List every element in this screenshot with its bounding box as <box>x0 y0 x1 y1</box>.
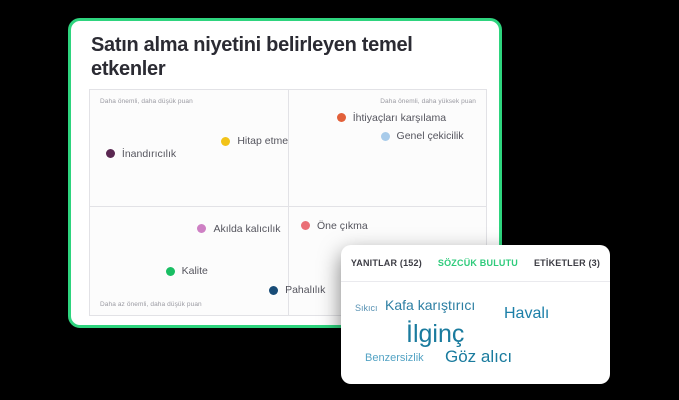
data-point-label: İhtiyaçları karşılama <box>353 112 446 124</box>
data-point-dot <box>269 286 278 295</box>
data-point[interactable]: Öne çıkma <box>301 220 368 232</box>
data-point[interactable]: Kalite <box>166 265 208 277</box>
data-point[interactable]: Hitap etme <box>221 135 288 147</box>
data-point-dot <box>301 221 310 230</box>
data-point-dot <box>381 132 390 141</box>
word-cloud-term[interactable]: Göz alıcı <box>445 348 512 365</box>
data-point[interactable]: İhtiyaçları karşılama <box>337 112 446 124</box>
word-cloud-panel: YANITLAR (152)SÖZCÜK BULUTUETİKETLER (3)… <box>341 245 610 384</box>
data-point-label: Öne çıkma <box>317 220 368 232</box>
data-point-dot <box>106 149 115 158</box>
word-cloud-term[interactable]: Havalı <box>504 306 549 322</box>
word-cloud-term[interactable]: Kafa karıştırıcı <box>385 298 475 312</box>
data-point-label: İnandırıcılık <box>122 148 176 160</box>
word-cloud: SıkıcıKafa karıştırıcıHavalıİlginçBenzer… <box>341 282 610 384</box>
data-point[interactable]: İnandırıcılık <box>106 148 176 160</box>
data-point-dot <box>221 137 230 146</box>
data-point-dot <box>197 224 206 233</box>
data-point[interactable]: Akılda kalıcılık <box>197 223 280 235</box>
tab-tags[interactable]: ETİKETLER (3) <box>534 258 600 268</box>
word-cloud-term[interactable]: Sıkıcı <box>355 304 378 313</box>
data-point-dot <box>337 113 346 122</box>
data-point-label: Akılda kalıcılık <box>213 223 280 235</box>
word-cloud-term[interactable]: İlginç <box>406 322 464 347</box>
page-title: Satın alma niyetini belirleyen temel etk… <box>91 34 481 81</box>
quadrant-horizontal-axis <box>90 206 486 207</box>
quadrant-label-top-left: Daha önemli, daha düşük puan <box>100 98 193 105</box>
quadrant-vertical-axis <box>288 90 289 315</box>
data-point-label: Pahalılık <box>285 284 325 296</box>
tab-word-cloud[interactable]: SÖZCÜK BULUTU <box>438 258 518 268</box>
word-cloud-term[interactable]: Benzersizlik <box>365 353 424 364</box>
data-point[interactable]: Genel çekicilik <box>381 130 464 142</box>
data-point-label: Kalite <box>182 265 208 277</box>
data-point-label: Hitap etme <box>237 135 288 147</box>
tab-bar: YANITLAR (152)SÖZCÜK BULUTUETİKETLER (3) <box>341 245 610 282</box>
quadrant-label-bottom-left: Daha az önemli, daha düşük puan <box>100 301 202 308</box>
data-point-dot <box>166 267 175 276</box>
quadrant-label-top-right: Daha önemli, daha yüksek puan <box>380 98 476 105</box>
data-point[interactable]: Pahalılık <box>269 284 325 296</box>
data-point-label: Genel çekicilik <box>397 130 464 142</box>
tab-responses[interactable]: YANITLAR (152) <box>351 258 422 268</box>
